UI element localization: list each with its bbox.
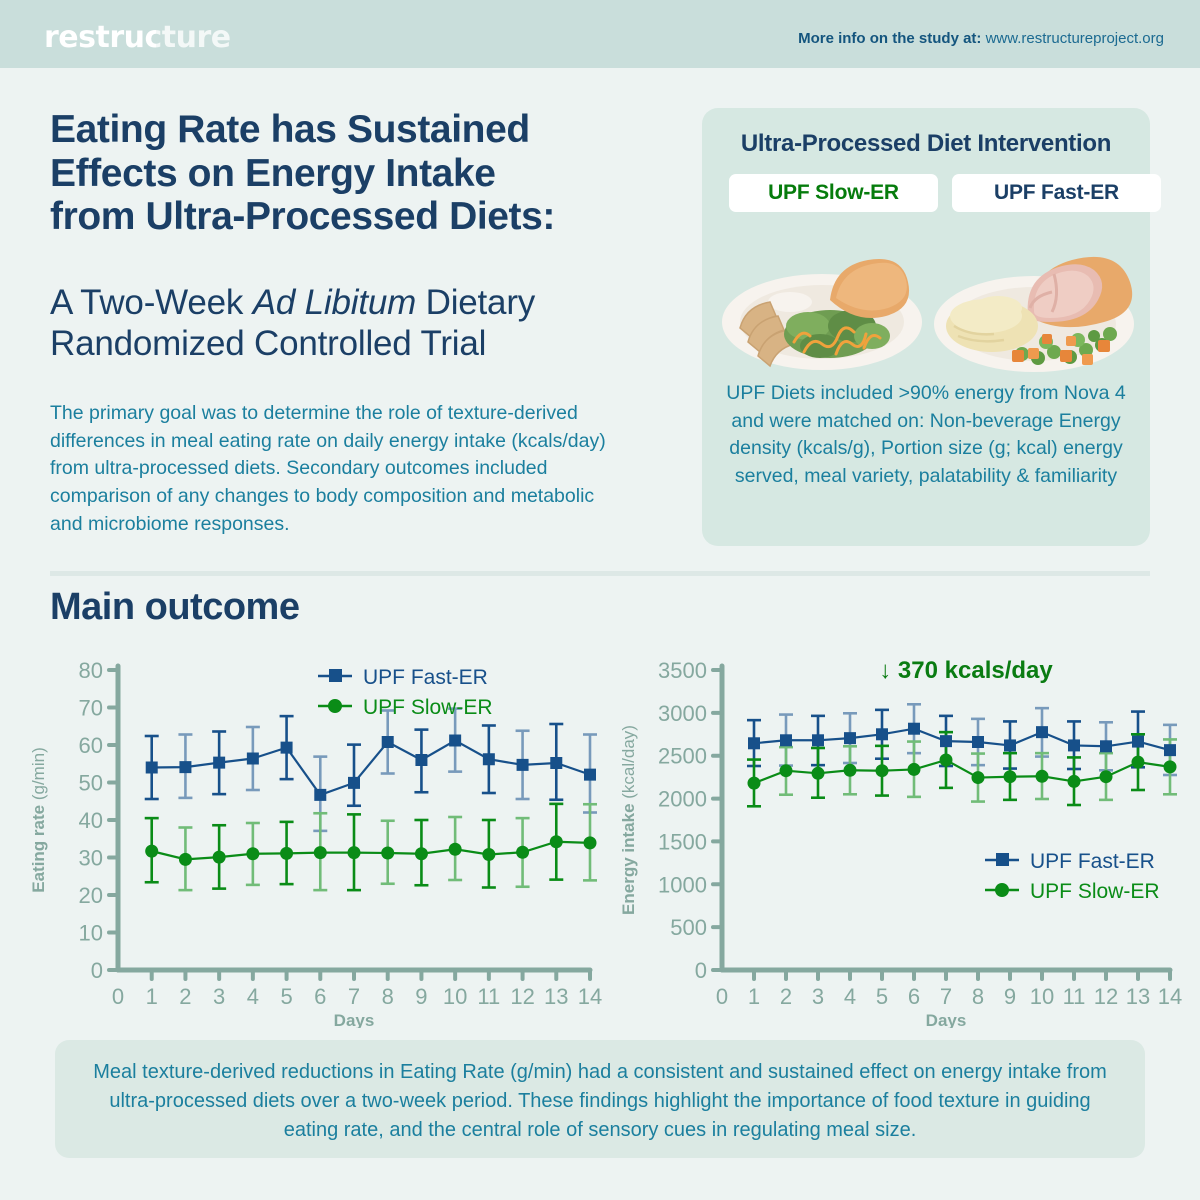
title-line-2: Effects on Energy Intake: [50, 152, 690, 196]
svg-text:9: 9: [415, 984, 427, 1009]
svg-text:1000: 1000: [658, 872, 707, 897]
subtitle-line-1: A Two-Week Ad Libitum Dietary: [50, 282, 700, 323]
title-line-1: Eating Rate has Sustained: [50, 108, 690, 152]
intervention-panel-title: Ultra-Processed Diet Intervention: [702, 130, 1150, 158]
svg-text:0: 0: [91, 958, 103, 983]
svg-text:2: 2: [179, 984, 191, 1009]
plate-illustrations: [702, 230, 1150, 380]
svg-text:UPF Fast-ER: UPF Fast-ER: [1030, 850, 1155, 873]
svg-text:4: 4: [247, 984, 259, 1009]
slow-er-meal-plate-icon: [712, 230, 932, 380]
svg-text:UPF Slow-ER: UPF Slow-ER: [363, 696, 493, 719]
svg-text:10: 10: [443, 984, 467, 1009]
svg-text:13: 13: [544, 984, 568, 1009]
svg-text:6: 6: [314, 984, 326, 1009]
chart-eating-rate: 0102030405060708001234567891011121314Day…: [22, 648, 612, 1028]
svg-text:1500: 1500: [658, 829, 707, 854]
intervention-panel: Ultra-Processed Diet Intervention UPF Sl…: [702, 108, 1150, 546]
subtitle-post: Dietary: [416, 283, 535, 322]
intervention-panel-note: UPF Diets included >90% energy from Nova…: [716, 380, 1136, 491]
restructure-logo: restructure: [44, 20, 231, 55]
svg-text:2500: 2500: [658, 744, 707, 769]
header-study-link: More info on the study at: www.restructu…: [798, 30, 1164, 47]
svg-text:14: 14: [578, 984, 602, 1009]
svg-text:10: 10: [1030, 984, 1054, 1009]
svg-text:3500: 3500: [658, 658, 707, 683]
svg-text:12: 12: [1094, 984, 1118, 1009]
svg-text:2: 2: [780, 984, 792, 1009]
page-subtitle: A Two-Week Ad Libitum Dietary Randomized…: [50, 282, 700, 365]
svg-text:3: 3: [213, 984, 225, 1009]
title-line-3: from Ultra-Processed Diets:: [50, 195, 690, 239]
subtitle-line-2: Randomized Controlled Trial: [50, 323, 700, 364]
project-url[interactable]: www.restructureproject.org: [986, 30, 1164, 47]
svg-text:3000: 3000: [658, 701, 707, 726]
svg-text:5: 5: [876, 984, 888, 1009]
svg-text:60: 60: [79, 733, 103, 758]
svg-text:3: 3: [812, 984, 824, 1009]
svg-text:Eating rate (g/min): Eating rate (g/min): [29, 747, 48, 893]
badge-upf-slow-er[interactable]: UPF Slow-ER: [729, 174, 938, 212]
svg-text:6: 6: [908, 984, 920, 1009]
svg-text:11: 11: [477, 984, 500, 1009]
svg-text:0: 0: [716, 984, 728, 1009]
svg-text:30: 30: [79, 846, 103, 871]
svg-text:Days: Days: [334, 1011, 375, 1028]
svg-text:9: 9: [1004, 984, 1016, 1009]
svg-text:8: 8: [972, 984, 984, 1009]
svg-text:50: 50: [79, 771, 103, 796]
badge-upf-fast-er[interactable]: UPF Fast-ER: [952, 174, 1161, 212]
svg-text:70: 70: [79, 696, 103, 721]
svg-text:500: 500: [670, 915, 707, 940]
svg-text:UPF Slow-ER: UPF Slow-ER: [1030, 880, 1160, 903]
svg-text:11: 11: [1063, 984, 1086, 1009]
svg-text:5: 5: [280, 984, 292, 1009]
svg-text:Days: Days: [926, 1011, 967, 1028]
section-heading-main-outcome: Main outcome: [50, 586, 299, 629]
svg-text:0: 0: [695, 958, 707, 983]
svg-text:8: 8: [382, 984, 394, 1009]
chart-energy-intake: 0500100015002000250030003500012345678910…: [612, 648, 1192, 1028]
svg-text:10: 10: [79, 921, 103, 946]
fast-er-meal-plate-icon: [924, 230, 1144, 380]
page-title: Eating Rate has Sustained Effects on Ene…: [50, 108, 690, 239]
more-info-label: More info on the study at:: [798, 30, 981, 47]
svg-text:12: 12: [510, 984, 534, 1009]
svg-text:7: 7: [348, 984, 360, 1009]
svg-text:1: 1: [146, 984, 158, 1009]
svg-text:0: 0: [112, 984, 124, 1009]
svg-text:40: 40: [79, 808, 103, 833]
conclusion-box: Meal texture-derived reductions in Eatin…: [55, 1040, 1145, 1158]
subtitle-italic: Ad Libitum: [253, 283, 416, 322]
svg-text:14: 14: [1158, 984, 1182, 1009]
svg-text:7: 7: [940, 984, 952, 1009]
page-header: restructure More info on the study at: w…: [0, 0, 1200, 68]
svg-text:4: 4: [844, 984, 856, 1009]
conclusion-text: Meal texture-derived reductions in Eatin…: [55, 1040, 1145, 1145]
section-divider: [50, 571, 1150, 576]
subtitle-pre: A Two-Week: [50, 283, 253, 322]
svg-text:2000: 2000: [658, 787, 707, 812]
svg-text:1: 1: [748, 984, 760, 1009]
svg-text:↓ 370 kcals/day: ↓ 370 kcals/day: [879, 657, 1053, 684]
svg-text:20: 20: [79, 883, 103, 908]
svg-text:Energy intake (kcal/day): Energy intake (kcal/day): [619, 725, 638, 915]
svg-text:80: 80: [79, 658, 103, 683]
study-goal-paragraph: The primary goal was to determine the ro…: [50, 400, 625, 538]
svg-text:UPF Fast-ER: UPF Fast-ER: [363, 666, 488, 689]
svg-text:13: 13: [1126, 984, 1150, 1009]
